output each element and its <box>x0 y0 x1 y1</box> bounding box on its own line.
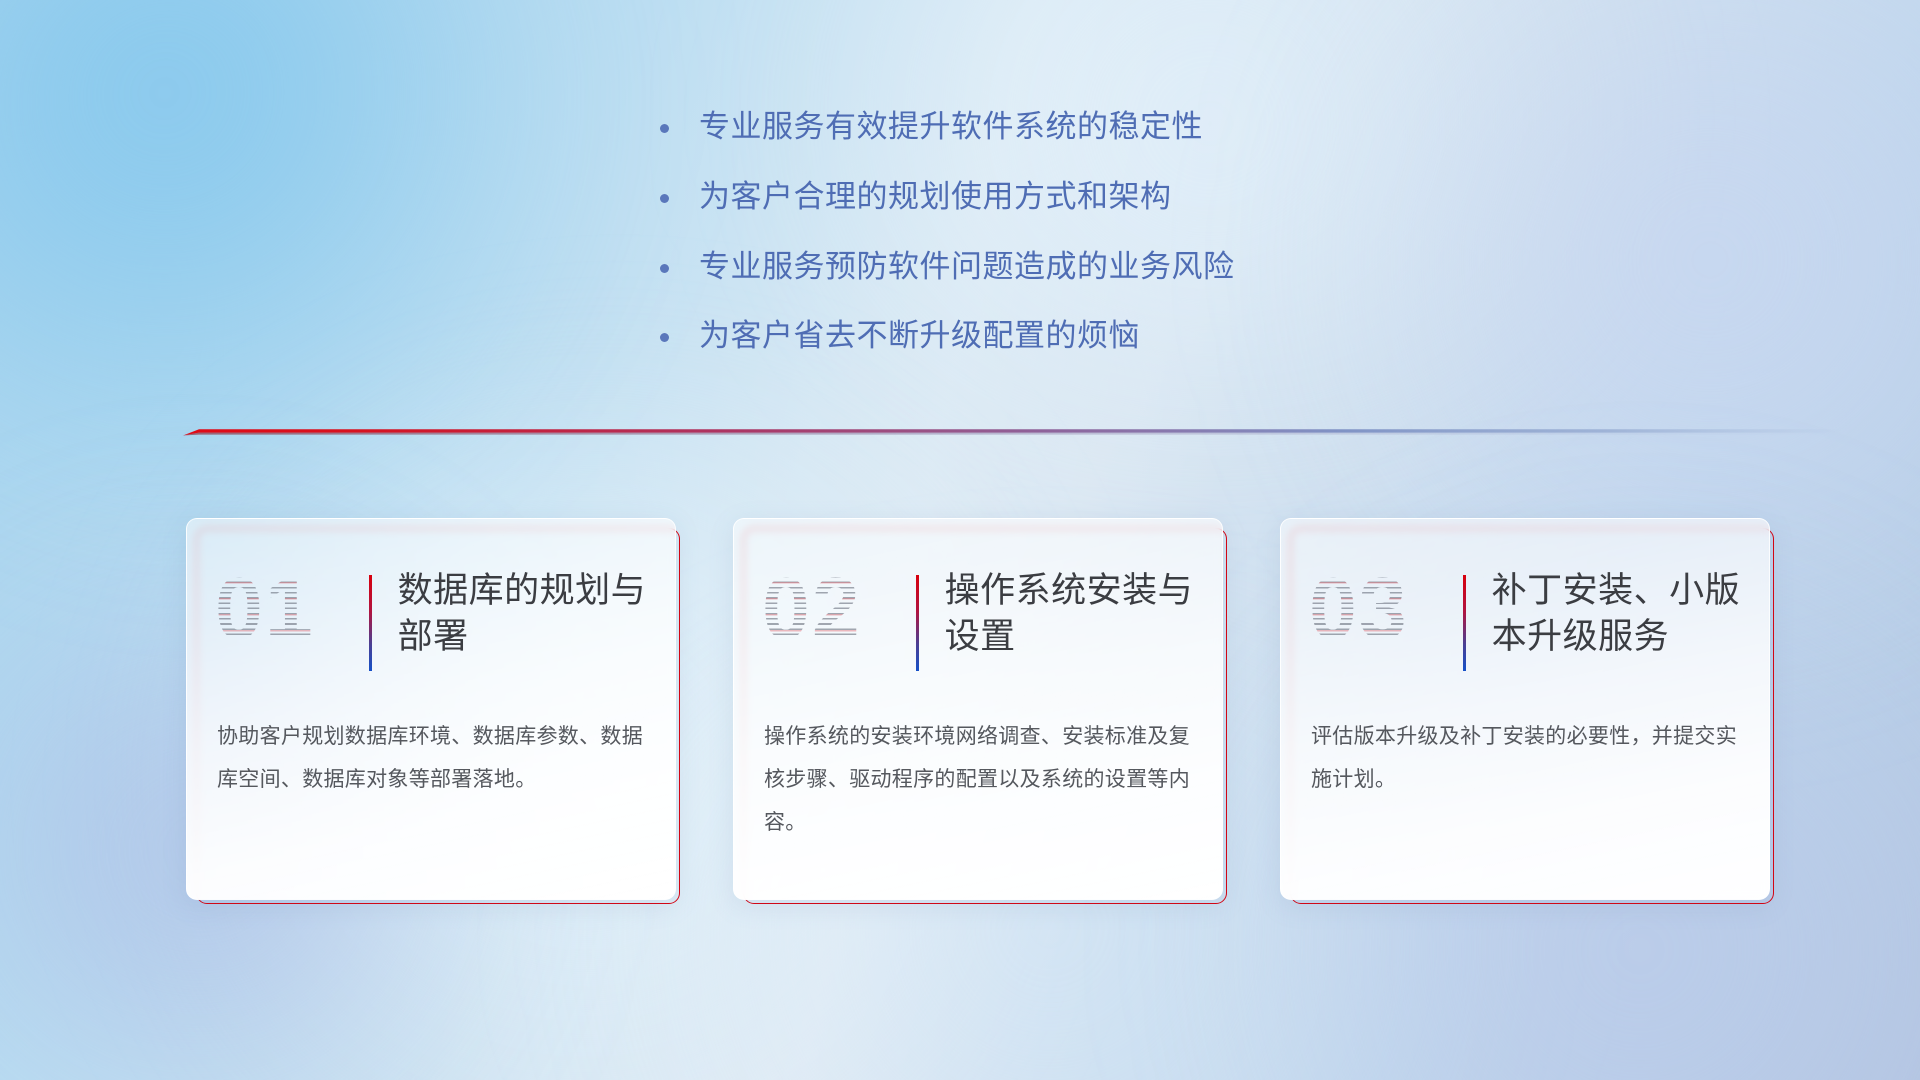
card-description: 协助客户规划数据库环境、数据库参数、数据库空间、数据库对象等部署落地。 <box>217 715 643 801</box>
card-title: 操作系统安装与设置 <box>945 566 1196 659</box>
card-description: 评估版本升级及补丁安装的必要性，并提交实施计划。 <box>1311 715 1737 801</box>
card-header: 02 操作系统安装与设置 <box>734 566 1196 671</box>
card-divider-bar <box>916 575 919 671</box>
bullet-dot-icon <box>660 194 669 203</box>
card-divider-bar <box>369 575 372 671</box>
card-header: 03 补丁安装、小版本升级服务 <box>1281 566 1743 671</box>
card-number: 02 <box>762 566 912 652</box>
service-card[interactable]: 02 操作系统安装与设置 操作系统的安装环境网络调查、安装标准及复核步骤、驱动程… <box>733 518 1223 900</box>
card-title: 补丁安装、小版本升级服务 <box>1492 566 1743 659</box>
bullet-text: 专业服务预防软件问题造成的业务风险 <box>699 248 1235 287</box>
service-cards-row: 01 数据库的规划与部署 协助客户规划数据库环境、数据库参数、数据库空间、数据库… <box>186 518 1770 900</box>
card-description: 操作系统的安装环境网络调查、安装标准及复核步骤、驱动程序的配置以及系统的设置等内… <box>764 715 1190 844</box>
card-title: 数据库的规划与部署 <box>398 566 649 659</box>
bullet-dot-icon <box>660 124 669 133</box>
card-surface: 02 操作系统安装与设置 操作系统的安装环境网络调查、安装标准及复核步骤、驱动程… <box>733 518 1223 900</box>
bullet-dot-icon <box>660 333 669 342</box>
card-surface: 03 补丁安装、小版本升级服务 评估版本升级及补丁安装的必要性，并提交实施计划。 <box>1280 518 1770 900</box>
benefits-bullet-list: 专业服务有效提升软件系统的稳定性 为客户合理的规划使用方式和架构 专业服务预防软… <box>660 108 1560 387</box>
service-card[interactable]: 01 数据库的规划与部署 协助客户规划数据库环境、数据库参数、数据库空间、数据库… <box>186 518 676 900</box>
list-item: 为客户省去不断升级配置的烦恼 <box>660 317 1560 356</box>
bullet-text: 为客户合理的规划使用方式和架构 <box>699 178 1172 217</box>
card-divider-bar <box>1463 575 1466 671</box>
service-card[interactable]: 03 补丁安装、小版本升级服务 评估版本升级及补丁安装的必要性，并提交实施计划。 <box>1280 518 1770 900</box>
list-item: 专业服务预防软件问题造成的业务风险 <box>660 248 1560 287</box>
section-divider <box>183 424 1843 440</box>
card-number: 01 <box>215 566 365 652</box>
card-number: 03 <box>1309 566 1459 652</box>
bullet-text: 专业服务有效提升软件系统的稳定性 <box>699 108 1203 147</box>
bullet-text: 为客户省去不断升级配置的烦恼 <box>699 317 1140 356</box>
bullet-dot-icon <box>660 264 669 273</box>
list-item: 专业服务有效提升软件系统的稳定性 <box>660 108 1560 147</box>
card-header: 01 数据库的规划与部署 <box>187 566 649 671</box>
list-item: 为客户合理的规划使用方式和架构 <box>660 178 1560 217</box>
card-surface: 01 数据库的规划与部署 协助客户规划数据库环境、数据库参数、数据库空间、数据库… <box>186 518 676 900</box>
